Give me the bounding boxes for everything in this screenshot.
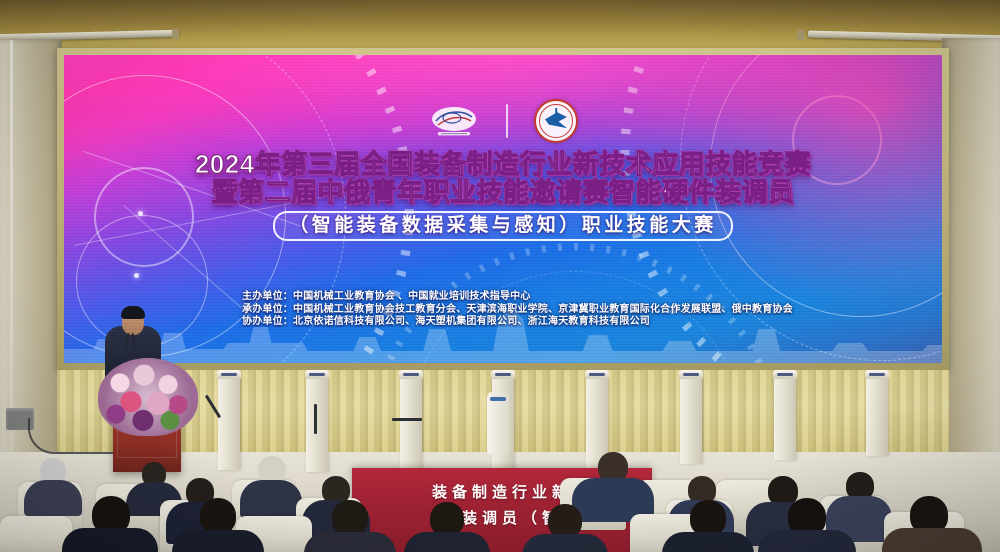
pillar-cap-5	[585, 370, 609, 379]
organizer-line-host: 主办单位：中国机械工业教育协会 、中国就业培训技术指导中心	[242, 291, 793, 304]
audience-head	[548, 504, 582, 538]
audience-shoulders	[522, 534, 608, 552]
conference-photo: 2024年第三届全国装备制造行业新技术应用技能竞赛 暨第二届中俄青年职业技能邀请…	[0, 0, 1000, 552]
logo-row	[64, 95, 942, 147]
audience-shoulders	[304, 532, 396, 552]
wall-panel-right	[942, 38, 1000, 458]
pillar-cap-2	[305, 370, 329, 379]
led-screen: 2024年第三届全国装备制造行业新技术应用技能竞赛 暨第二届中俄青年职业技能邀请…	[64, 55, 942, 363]
subtitle-wrap: （智能装备数据采集与感知）职业技能大赛	[64, 211, 942, 241]
audience-shoulders	[62, 528, 158, 552]
flower-arrangement	[98, 358, 198, 436]
audience-shoulders	[662, 532, 754, 552]
audience	[0, 440, 1000, 552]
pillar-cap-4	[491, 370, 515, 379]
wall-panel-left	[0, 40, 62, 470]
audience-shoulders	[882, 528, 982, 552]
audience-shoulders	[172, 530, 264, 552]
pillar-cap-3	[399, 370, 423, 379]
audience-shoulders	[404, 532, 490, 552]
competition-emblem-logo	[428, 101, 480, 141]
organizer-block: 主办单位：中国机械工业教育协会 、中国就业培训技术指导中心 承办单位：中国机械工…	[242, 291, 793, 329]
pillar-cap-8	[865, 370, 889, 379]
ceiling-band	[0, 0, 1000, 48]
tech-node-2	[134, 273, 139, 278]
subtitle: （智能装备数据采集与感知）职业技能大赛	[273, 211, 733, 241]
audience-shoulders	[24, 480, 82, 516]
title-line-1: 2024年第三届全国装备制造行业新技术应用技能竞赛	[64, 151, 942, 178]
pillar-cap-6	[679, 370, 703, 379]
speaker-hair	[121, 306, 145, 319]
ceiling-mount-left	[172, 29, 179, 39]
association-seal-logo	[534, 99, 578, 143]
organizer-line-undertaker: 承办单位：中国机械工业教育协会技工教育分会、天津滨海职业学院、京津冀职业教育国际…	[242, 304, 793, 317]
pillar-cap-7	[773, 370, 797, 379]
organizer-line-coorganizer: 协办单位：北京依诺信科技有限公司、海天塑机集团有限公司、浙江海天教育科技有限公司	[242, 316, 793, 329]
ceiling-mount-right	[797, 30, 804, 40]
title-line-2: 暨第二届中俄青年职业技能邀请赛智能硬件装调员	[64, 179, 942, 206]
audience-head	[430, 502, 464, 536]
title-block: 2024年第三届全国装备制造行业新技术应用技能竞赛 暨第二届中俄青年职业技能邀请…	[64, 151, 942, 241]
audience-head	[200, 498, 236, 534]
audience-head	[690, 500, 726, 536]
audience-shoulders	[758, 530, 856, 552]
seal-mark	[545, 112, 567, 128]
pillar-arm-2	[314, 404, 317, 434]
pillar-arm-3	[392, 418, 422, 421]
logo-divider	[506, 104, 508, 138]
audience-shoulders	[240, 480, 302, 518]
pillar-cap-1	[217, 370, 241, 379]
led-screen-frame: 2024年第三届全国装备制造行业新技术应用技能竞赛 暨第二届中俄青年职业技能邀请…	[57, 48, 949, 370]
audience-head	[332, 500, 368, 536]
